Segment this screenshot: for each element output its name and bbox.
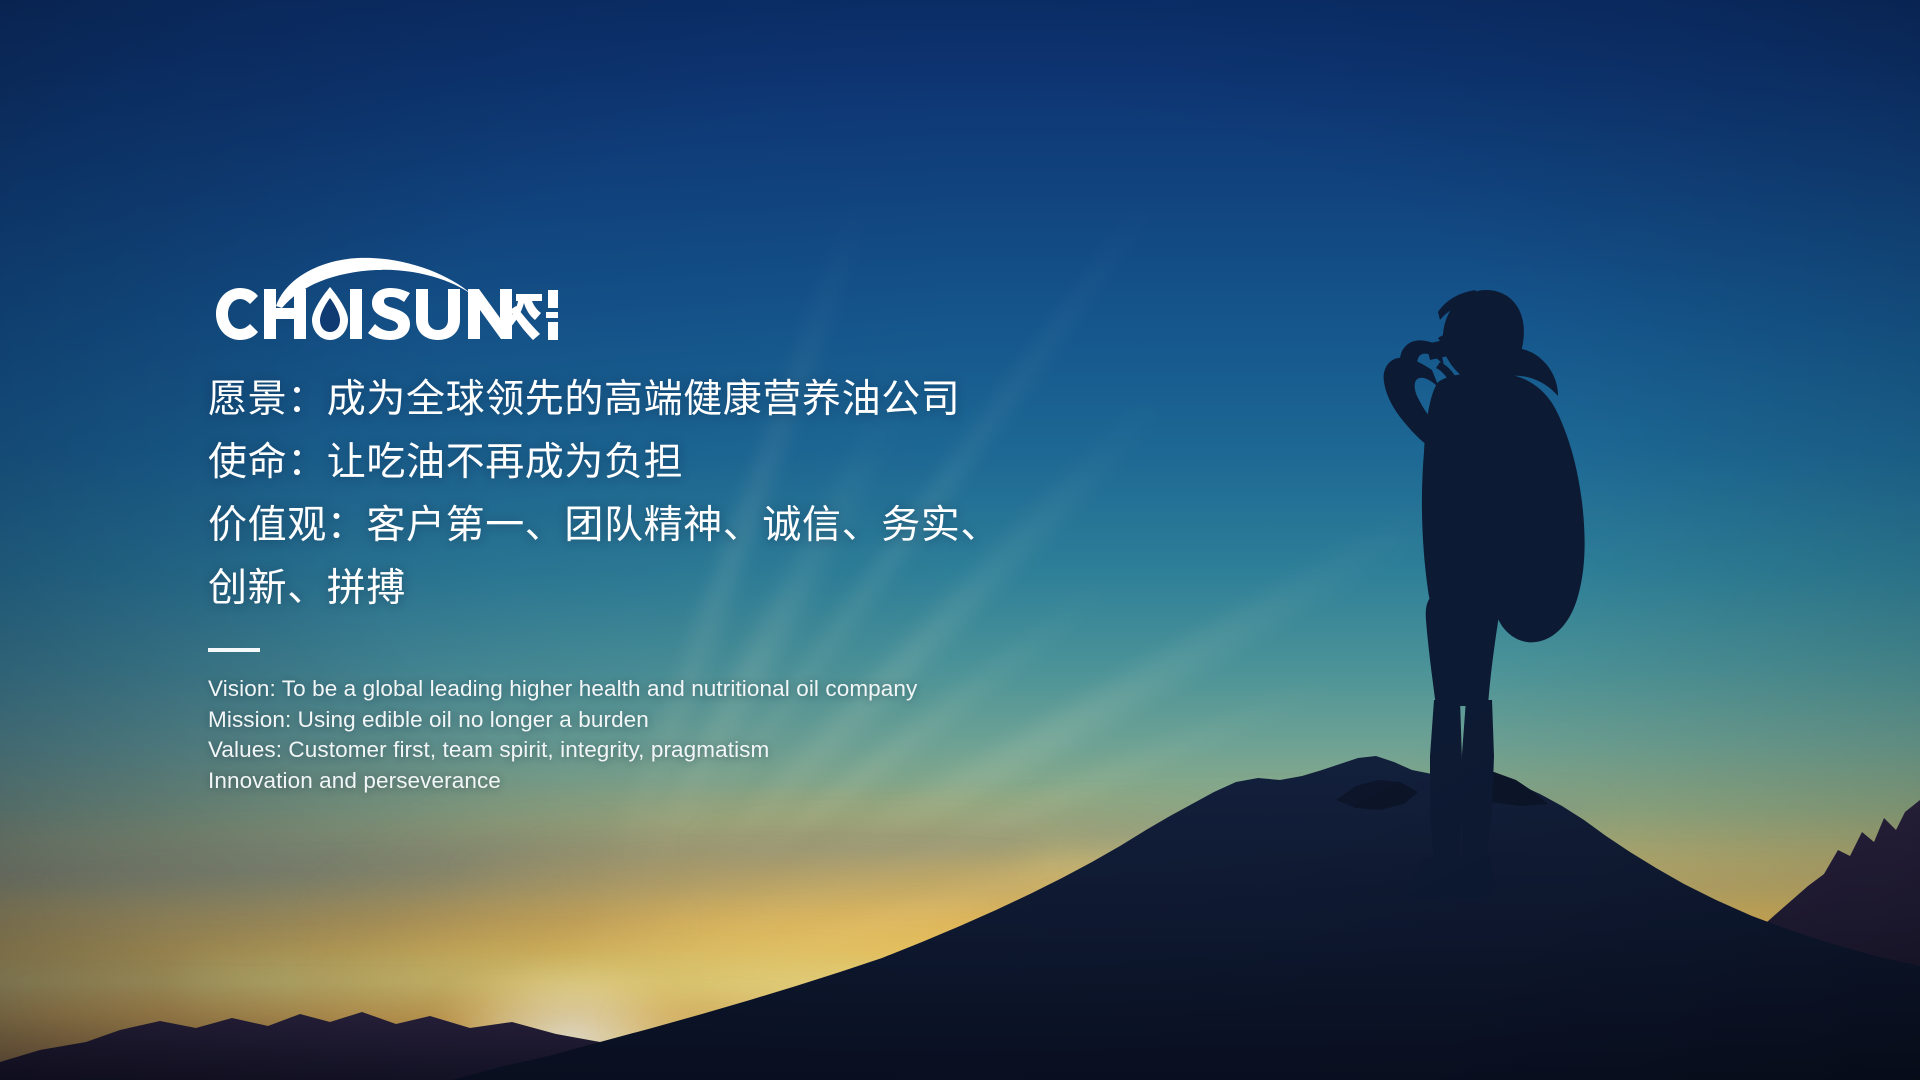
slide-canvas: 愿景：成为全球领先的高端健康营养油公司 使命：让吃油不再成为负担 价值观：客户第…: [0, 0, 1920, 1080]
mission-line-cn: 使命：让吃油不再成为负担: [208, 431, 1108, 494]
values-line-en-2: Innovation and perseverance: [208, 766, 1108, 797]
values-line-en-1: Values: Customer first, team spirit, int…: [208, 735, 1108, 766]
mission-line-en: Mission: Using edible oil no longer a bu…: [208, 705, 1108, 736]
divider-rule: [208, 648, 260, 652]
values-line-cn-1: 价值观：客户第一、团队精神、诚信、务实、: [208, 494, 1108, 557]
logo-wordmark-latin: [216, 288, 512, 340]
foreground-peak: [452, 756, 1920, 1080]
statement-english: Vision: To be a global leading higher he…: [208, 674, 1108, 796]
vision-line-en: Vision: To be a global leading higher he…: [208, 674, 1108, 705]
company-logo[interactable]: [208, 250, 1108, 342]
water-droplet-icon: [312, 287, 348, 340]
content-block: 愿景：成为全球领先的高端健康营养油公司 使命：让吃油不再成为负担 价值观：客户第…: [208, 250, 1108, 796]
vision-line-cn: 愿景：成为全球领先的高端健康营养油公司: [208, 368, 1108, 431]
statement-chinese: 愿景：成为全球领先的高端健康营养油公司 使命：让吃油不再成为负担 价值观：客户第…: [208, 368, 1108, 620]
values-line-cn-2: 创新、拼搏: [208, 557, 1108, 620]
